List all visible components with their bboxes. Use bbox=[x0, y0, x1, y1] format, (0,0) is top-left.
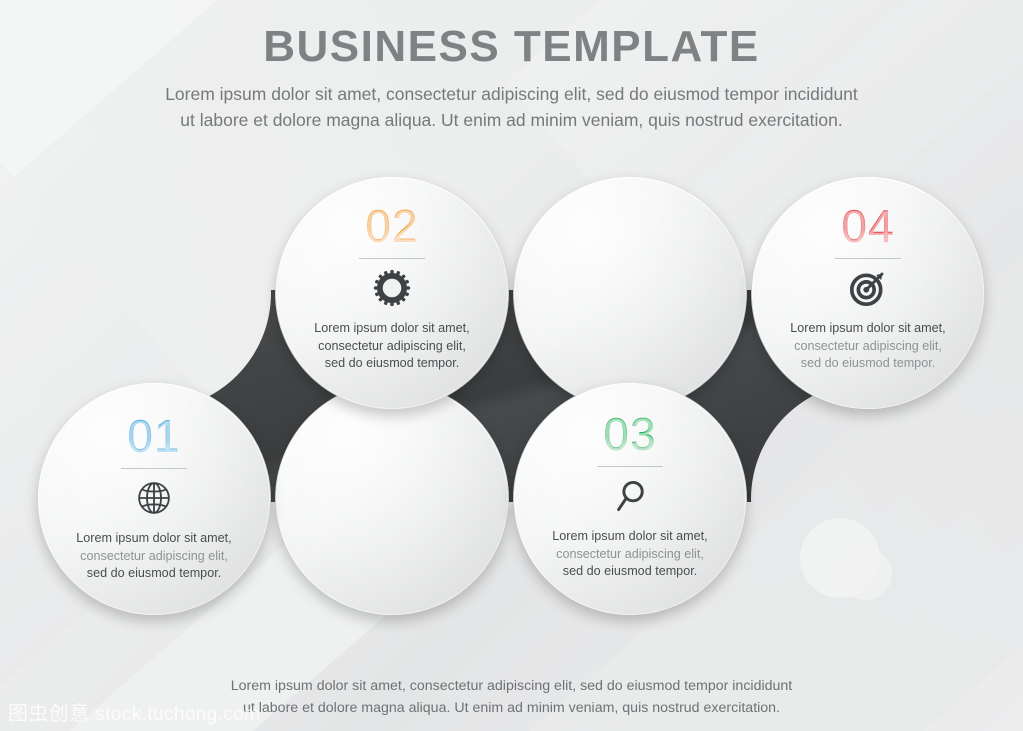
body-line: consectetur adipiscing elit, bbox=[318, 339, 466, 353]
step-circle-02[interactable]: 02 bbox=[276, 177, 508, 409]
gear-icon bbox=[371, 267, 413, 309]
filler-circle-top bbox=[514, 177, 746, 409]
body-line: Lorem ipsum dolor sit amet, bbox=[790, 321, 945, 335]
page-subtitle: Lorem ipsum dolor sit amet, consectetur … bbox=[62, 81, 962, 133]
step-number-04: 04 bbox=[841, 203, 894, 249]
body-line: consectetur adipiscing elit, bbox=[556, 547, 704, 561]
step-body-01: Lorem ipsum dolor sit amet, consectetur … bbox=[61, 530, 247, 583]
step-circle-04[interactable]: 04 Lorem ipsum dolor sit amet, bbox=[752, 177, 984, 409]
body-line: sed do eiusmod tempor. bbox=[87, 566, 221, 580]
step-circle-03[interactable]: 03 Lorem ipsum dolor sit amet, consectet… bbox=[514, 383, 746, 615]
subtitle-line: ut labore et dolore magna aliqua. Ut eni… bbox=[180, 110, 842, 130]
body-line: consectetur adipiscing elit, bbox=[80, 549, 228, 563]
watermark-text-cn: 图虫创意 bbox=[8, 701, 90, 725]
body-line: Lorem ipsum dolor sit amet, bbox=[314, 321, 469, 335]
body-line: Lorem ipsum dolor sit amet, bbox=[552, 529, 707, 543]
magnifier-icon bbox=[609, 475, 651, 517]
step-body-04: Lorem ipsum dolor sit amet, consectetur … bbox=[775, 320, 961, 373]
step-divider bbox=[121, 468, 187, 469]
step-divider bbox=[835, 258, 901, 259]
footer-line: ut labore et dolore magna aliqua. Ut eni… bbox=[243, 700, 780, 716]
step-divider bbox=[597, 466, 663, 467]
step-number-01: 01 bbox=[127, 413, 180, 459]
body-line: sed do eiusmod tempor. bbox=[563, 564, 697, 578]
step-body-02: Lorem ipsum dolor sit amet, consectetur … bbox=[299, 320, 485, 373]
step-number-02: 02 bbox=[365, 203, 418, 249]
body-line: consectetur adipiscing elit, bbox=[794, 339, 942, 353]
filler-circle-bottom bbox=[276, 383, 508, 615]
target-icon bbox=[847, 267, 889, 309]
step-number-03: 03 bbox=[603, 411, 656, 457]
step-divider bbox=[359, 258, 425, 259]
step-circle-01[interactable]: 01 Lorem ipsum dolor sit amet, consectet… bbox=[38, 383, 270, 615]
step-body-03: Lorem ipsum dolor sit amet, consectetur … bbox=[537, 528, 723, 581]
body-line: sed do eiusmod tempor. bbox=[325, 356, 459, 370]
page-title: BUSINESS TEMPLATE bbox=[0, 22, 1023, 72]
footer-line: Lorem ipsum dolor sit amet, consectetur … bbox=[231, 678, 792, 694]
subtitle-line: Lorem ipsum dolor sit amet, consectetur … bbox=[165, 84, 858, 104]
globe-icon bbox=[133, 477, 175, 519]
stock-watermark: 图虫创意 stock.tuchong.com bbox=[8, 697, 261, 726]
infographic-canvas: 01 Lorem ipsum dolor sit amet, consectet… bbox=[0, 0, 1023, 731]
body-line: sed do eiusmod tempor. bbox=[801, 356, 935, 370]
body-line: Lorem ipsum dolor sit amet, bbox=[76, 531, 231, 545]
watermark-url: stock.tuchong.com bbox=[95, 704, 260, 725]
